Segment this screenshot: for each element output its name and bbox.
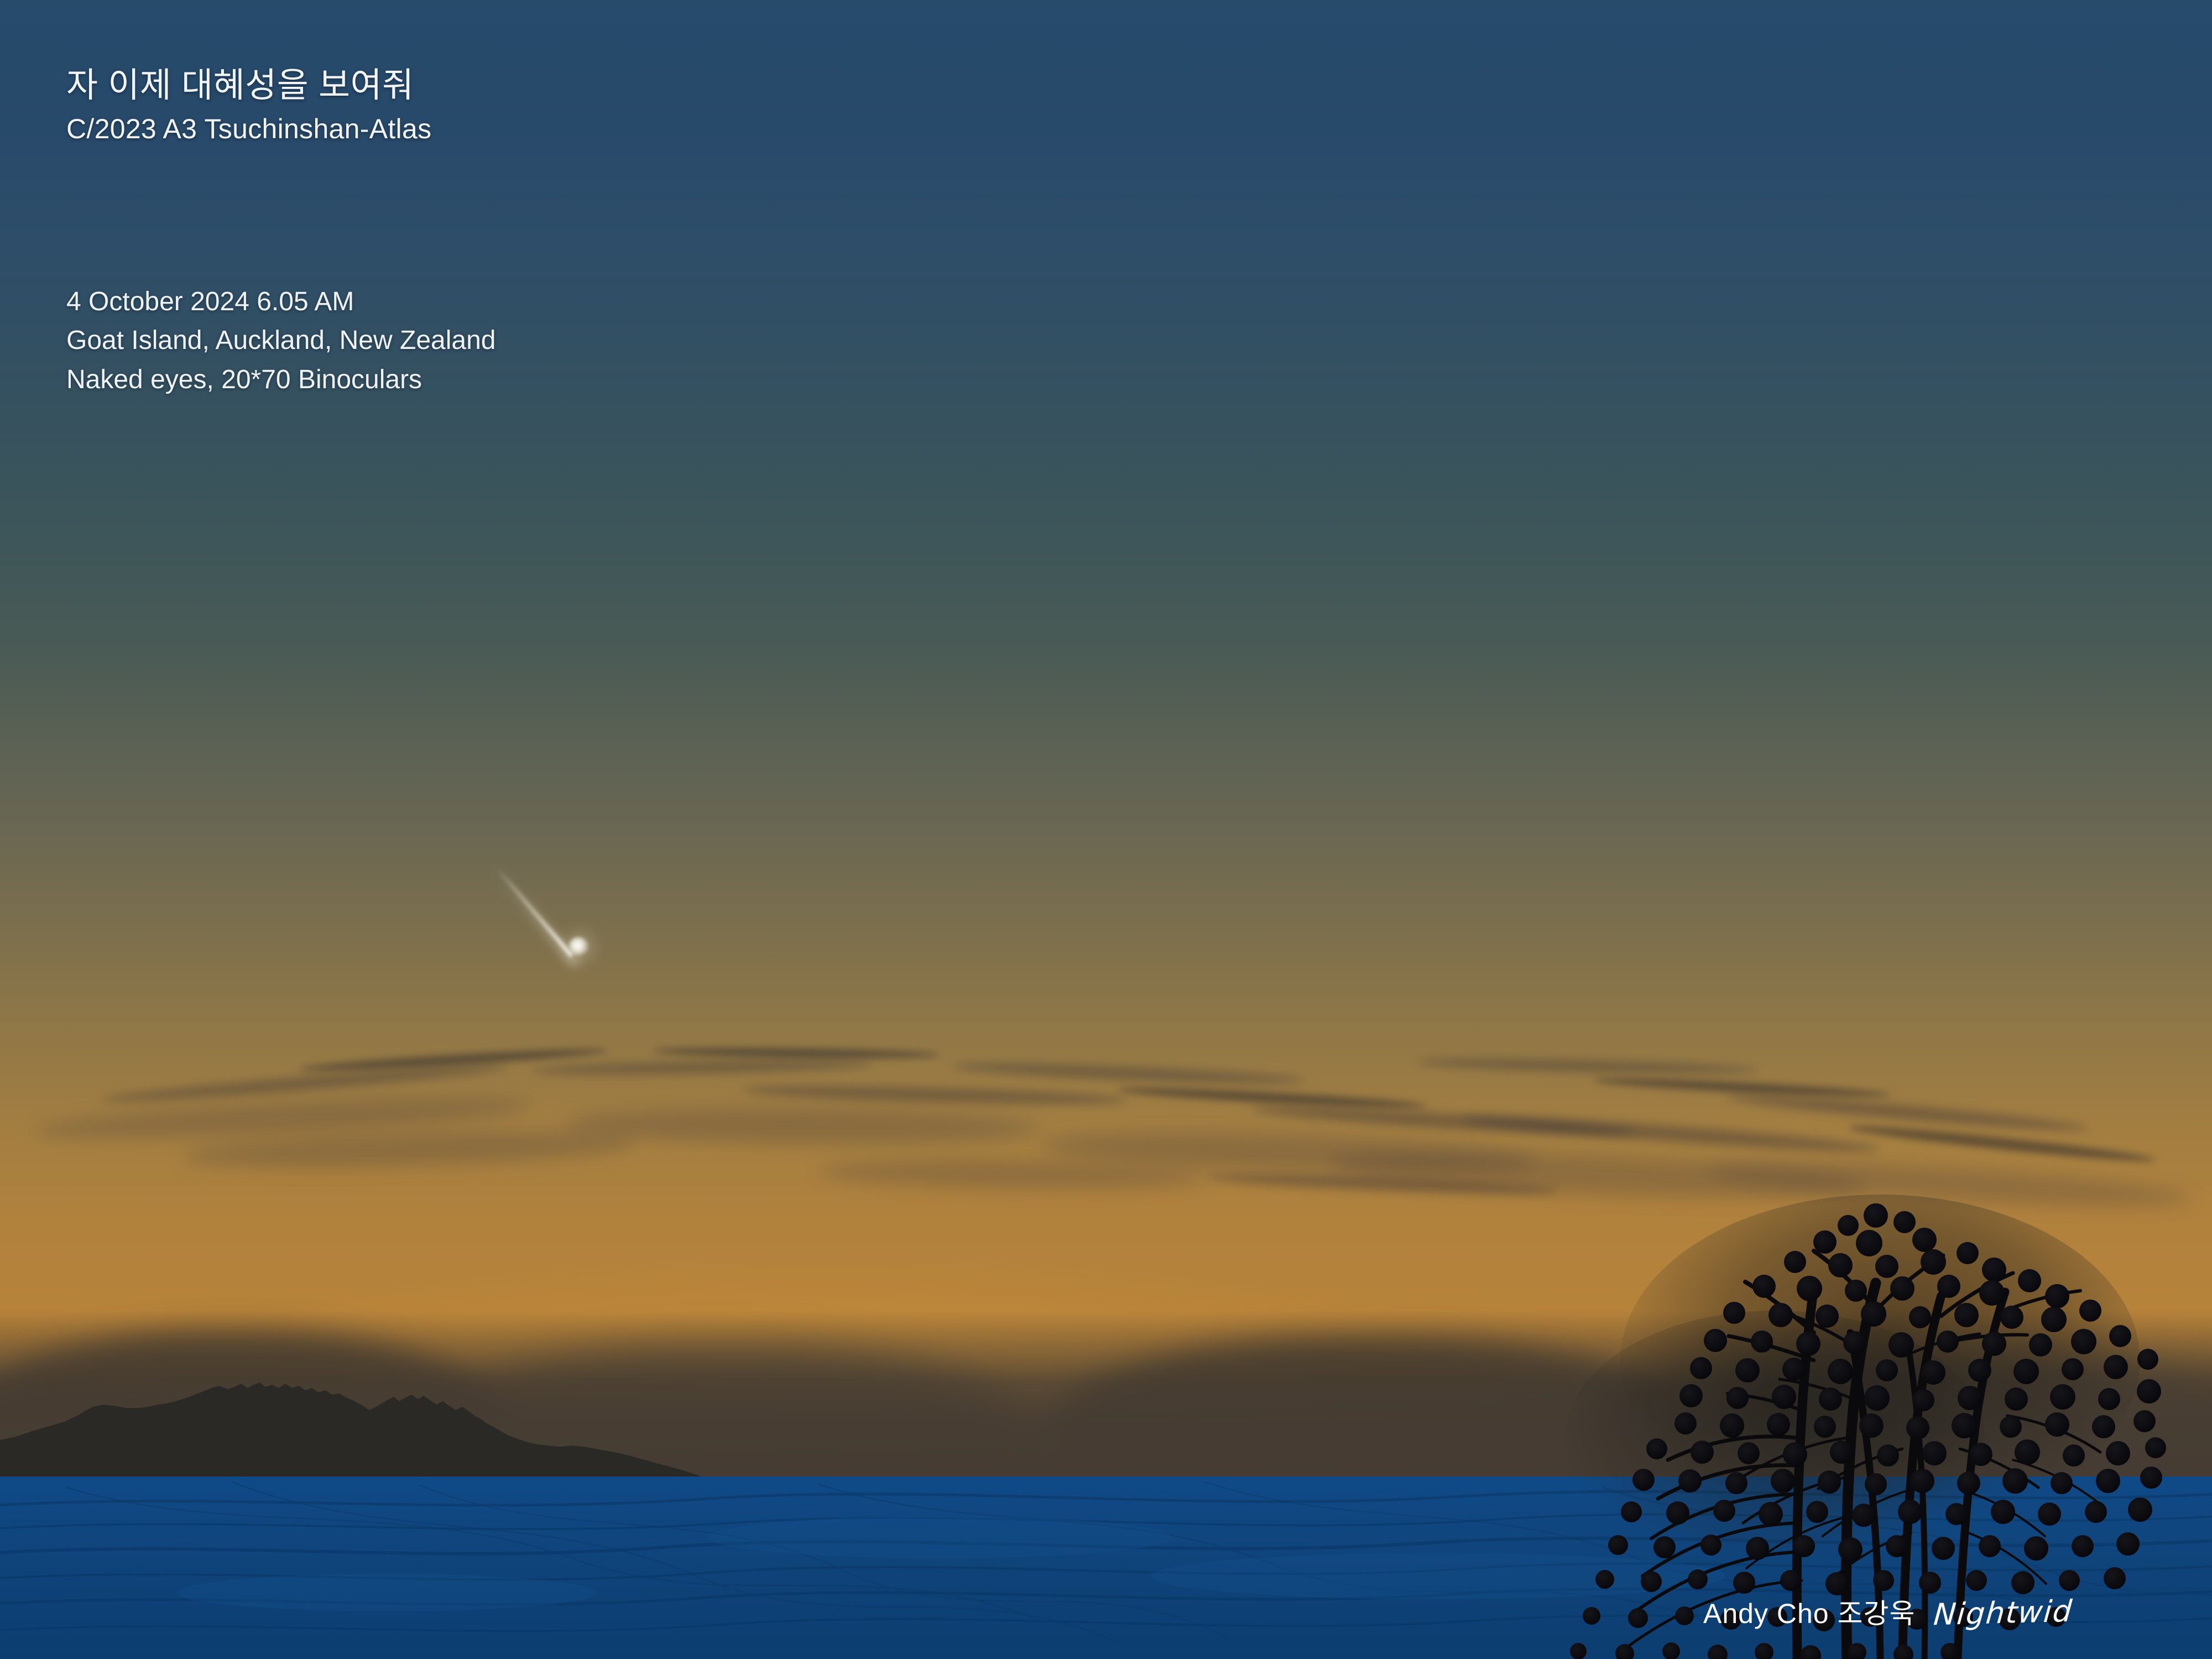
observation-datetime: 4 October 2024 6.05 AM xyxy=(66,285,495,319)
goat-island-silhouette xyxy=(0,1383,785,1488)
artist-signature: Andy Cho 조강욱 Nightwid xyxy=(1703,1592,2073,1631)
observation-location: Goat Island, Auckland, New Zealand xyxy=(66,324,495,357)
artist-name: Andy Cho 조강욱 xyxy=(1703,1592,1915,1631)
artist-handle: Nightwid xyxy=(1933,1594,2074,1632)
artwork-canvas: 자 이제 대혜성을 보여줘 C/2023 A3 Tsuchinshan-Atla… xyxy=(0,0,2212,1659)
pohutukawa-tree-silhouette xyxy=(1537,1178,2212,1659)
comet-designation: C/2023 A3 Tsuchinshan-Atlas xyxy=(66,112,431,146)
observation-info-block: 4 October 2024 6.05 AM Goat Island, Auck… xyxy=(66,285,495,397)
observation-equipment: Naked eyes, 20*70 Binoculars xyxy=(66,363,495,397)
artwork-title-block: 자 이제 대혜성을 보여줘 C/2023 A3 Tsuchinshan-Atla… xyxy=(66,65,431,146)
page-title: 자 이제 대혜성을 보여줘 xyxy=(66,65,431,106)
